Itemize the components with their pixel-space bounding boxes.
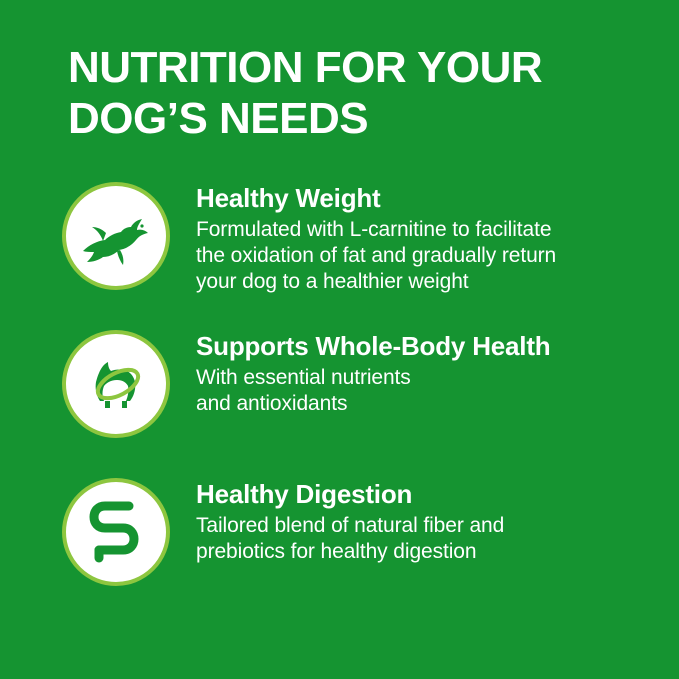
feature-body-line: the oxidation of fat and gradually retur…: [196, 243, 661, 269]
feature-title: Healthy Digestion: [196, 478, 661, 510]
list-item: Healthy Weight Formulated with L-carniti…: [0, 176, 679, 296]
dog-with-shield-ring-icon: [62, 330, 170, 438]
page-title: NUTRITION FOR YOUR DOG’S NEEDS: [68, 42, 628, 144]
list-item: Healthy Digestion Tailored blend of natu…: [0, 472, 679, 592]
feature-title: Supports Whole-Body Health: [196, 330, 661, 362]
feature-body: Tailored blend of natural fiber and preb…: [196, 513, 661, 565]
feature-body: Formulated with L-carnitine to facilitat…: [196, 217, 661, 295]
jumping-dog-icon: [62, 182, 170, 290]
feature-text: Healthy Weight Formulated with L-carniti…: [170, 176, 679, 295]
nutrition-benefits-panel: NUTRITION FOR YOUR DOG’S NEEDS Healthy W…: [0, 0, 679, 679]
feature-text: Healthy Digestion Tailored blend of natu…: [170, 472, 679, 565]
list-item: Supports Whole-Body Health With essentia…: [0, 324, 679, 444]
feature-body: With essential nutrients and antioxidant…: [196, 365, 661, 417]
feature-body-line: With essential nutrients: [196, 365, 661, 391]
feature-body-line: Tailored blend of natural fiber and: [196, 513, 661, 539]
feature-body-line: Formulated with L-carnitine to facilitat…: [196, 217, 661, 243]
feature-body-line: and antioxidants: [196, 391, 661, 417]
feature-list: Healthy Weight Formulated with L-carniti…: [0, 176, 679, 620]
intestine-digestion-icon: [62, 478, 170, 586]
feature-text: Supports Whole-Body Health With essentia…: [170, 324, 679, 417]
feature-body-line: your dog to a healthier weight: [196, 269, 661, 295]
feature-title: Healthy Weight: [196, 182, 661, 214]
feature-body-line: prebiotics for healthy digestion: [196, 539, 661, 565]
